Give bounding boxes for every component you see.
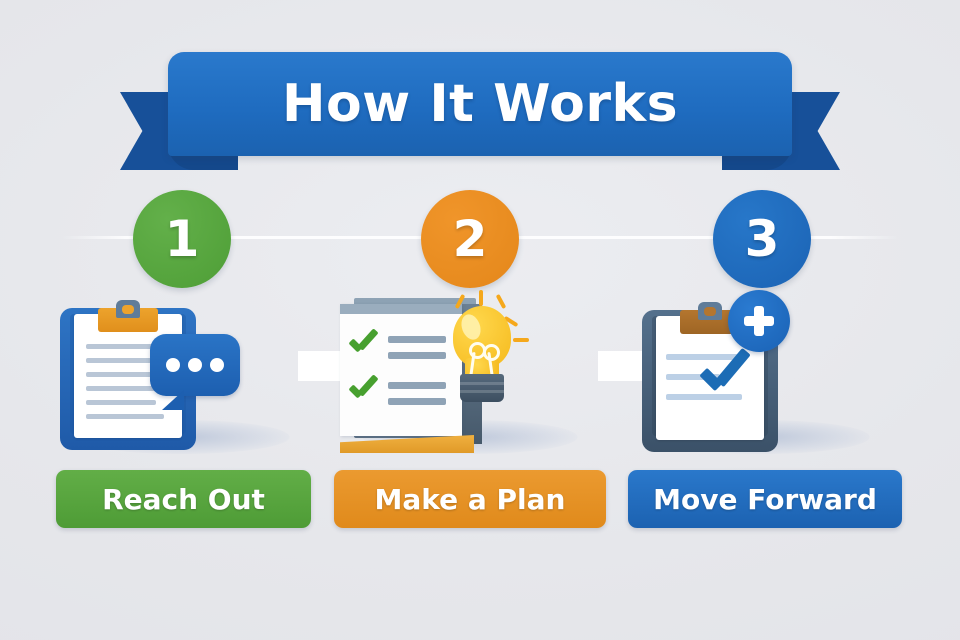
speech-bubble-icon xyxy=(150,334,240,396)
step-number-badge-1: 1 xyxy=(133,190,231,288)
step-label-move-forward[interactable]: Move Forward xyxy=(628,470,902,528)
step-number-badge-3: 3 xyxy=(713,190,811,288)
light-ray xyxy=(455,294,466,309)
ribbon-banner: How It Works xyxy=(120,52,840,170)
step-icon-1 xyxy=(32,290,332,460)
ellipsis-dot xyxy=(188,358,202,372)
step-icon-3 xyxy=(612,290,912,460)
filament-ring xyxy=(483,344,500,361)
check-icon xyxy=(348,330,378,356)
bulb-cap-line xyxy=(460,382,504,385)
text-line xyxy=(86,414,164,419)
clipboard-clip-hole xyxy=(704,307,716,316)
text-line xyxy=(86,400,156,405)
light-ray xyxy=(479,290,483,306)
lightbulb-icon xyxy=(435,290,523,418)
step-label-make-a-plan[interactable]: Make a Plan xyxy=(334,470,606,528)
bulb-cap xyxy=(460,374,504,402)
check-icon xyxy=(700,354,752,400)
infographic-canvas: How It Works 1 xyxy=(0,0,960,640)
step-icon-2 xyxy=(320,290,620,460)
step-number-badge-2: 2 xyxy=(421,190,519,288)
check-icon xyxy=(348,376,378,402)
step-label-reach-out[interactable]: Reach Out xyxy=(56,470,311,528)
light-ray xyxy=(513,338,529,342)
clipboard-clip-hole xyxy=(122,305,134,314)
bulb-cap-line xyxy=(460,390,504,393)
light-ray xyxy=(496,294,507,309)
plus-icon xyxy=(728,290,790,352)
ellipsis-dot xyxy=(166,358,180,372)
page-title: How It Works xyxy=(120,52,840,156)
ellipsis-dot xyxy=(210,358,224,372)
text-line xyxy=(86,372,152,377)
